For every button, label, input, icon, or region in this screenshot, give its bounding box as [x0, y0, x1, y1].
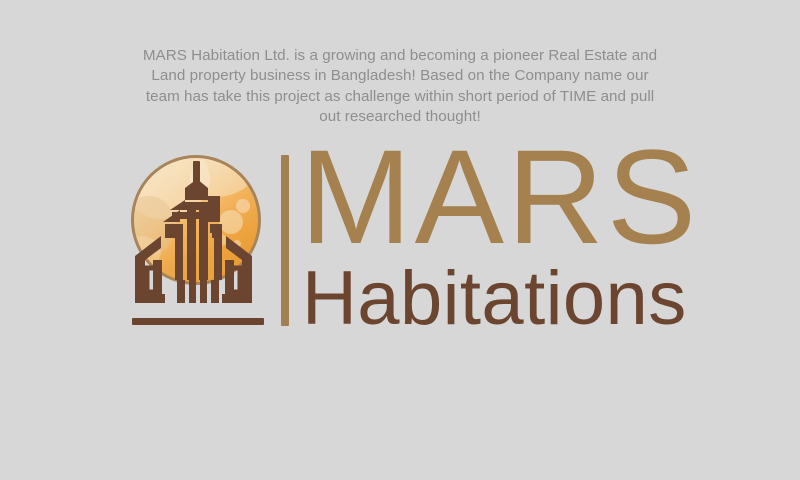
wordmark-primary: MARS [300, 131, 699, 265]
planet-blobs [125, 148, 261, 284]
mars-building-emblem-svg [125, 148, 275, 330]
wordmark: MARS Habitations [300, 140, 720, 340]
ground-bar [132, 318, 264, 325]
mars-building-emblem-icon [125, 148, 275, 330]
planet-circle [125, 148, 261, 285]
intro-paragraph: MARS Habitation Ltd. is a growing and be… [140, 46, 660, 127]
logo-banner: MARS Habitation Ltd. is a growing and be… [0, 0, 800, 480]
wordmark-secondary: Habitations [302, 261, 687, 337]
skyscraper-silhouette [132, 161, 264, 325]
brand-divider [281, 155, 289, 326]
